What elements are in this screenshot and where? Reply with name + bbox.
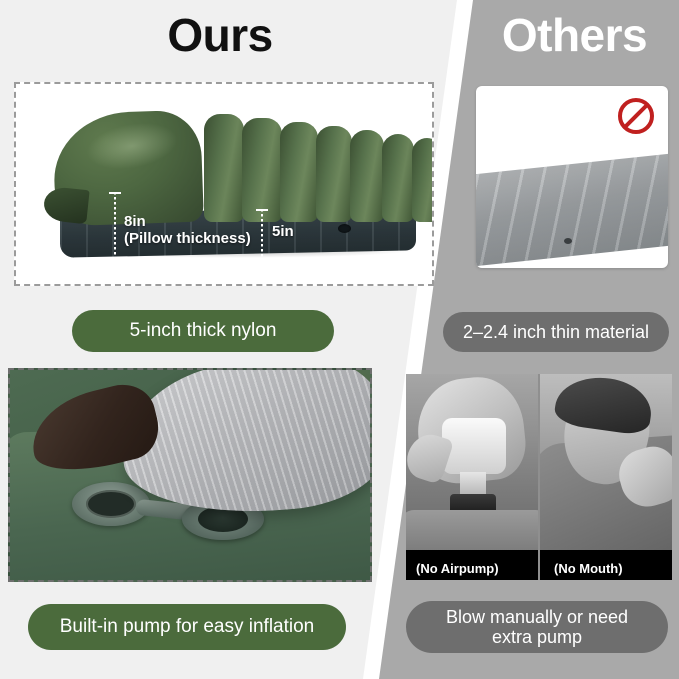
pump-nozzle-neck xyxy=(460,472,486,496)
others-heading: Others xyxy=(470,8,679,62)
measure-5in-label: 5in xyxy=(272,224,294,241)
ours-bottom-pill: Built-in pump for easy inflation xyxy=(28,604,346,650)
measure-8in-line xyxy=(114,192,116,281)
ours-top-pill: 5-inch thick nylon xyxy=(72,310,334,352)
others-bottom-pill: Blow manually or need extra pump xyxy=(406,601,668,653)
comparison-infographic: Ours Others 8 xyxy=(0,0,679,679)
measure-8in-label: 8in (Pillow thickness) xyxy=(124,214,251,248)
others-top-pill: 2–2.4 inch thin material xyxy=(443,312,669,352)
measure-5in-bottom-cap xyxy=(256,279,268,281)
measure-8in-bottom-cap xyxy=(109,279,121,281)
ours-heading: Ours xyxy=(0,8,440,62)
others-bottom-pill-line1: Blow manually or need xyxy=(446,607,628,627)
green-air-mattress-illustration: 8in (Pillow thickness) 5in xyxy=(16,84,432,284)
pillow-left-corner xyxy=(42,186,89,224)
no-mouth-photo: (No Mouth) xyxy=(540,374,672,580)
others-top-image-card xyxy=(476,86,668,268)
others-bottom-pill-line2: extra pump xyxy=(492,627,582,647)
measure-8in-sublabel: (Pillow thickness) xyxy=(124,230,251,247)
ours-bottom-image-card xyxy=(8,368,372,582)
gray-mattress-ridges xyxy=(476,152,668,268)
ours-top-image-card: 8in (Pillow thickness) 5in xyxy=(14,82,434,286)
no-airpump-photo: (No Airpump) xyxy=(406,374,538,580)
no-mouth-caption: (No Mouth) xyxy=(554,561,623,576)
foot-pump-bellows-inner xyxy=(86,490,136,518)
measure-8in-value: 8in xyxy=(124,213,146,230)
prohibition-icon xyxy=(616,96,656,136)
mattress-valve-port xyxy=(338,224,351,233)
others-bottom-image-card: (No Airpump) (No Mouth) xyxy=(406,374,672,580)
gray-mattress-valve xyxy=(564,238,572,244)
measure-5in-line xyxy=(261,209,263,281)
no-airpump-caption: (No Airpump) xyxy=(416,561,499,576)
